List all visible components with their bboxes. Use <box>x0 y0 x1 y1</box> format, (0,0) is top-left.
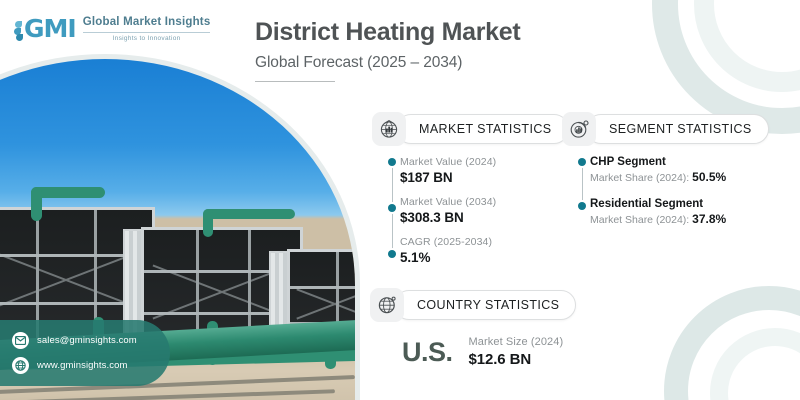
segment-statistics-header: SEGMENT STATISTICS <box>562 112 769 146</box>
country-metric-value: $12.6 BN <box>469 351 564 368</box>
country-name: U.S. <box>402 339 453 366</box>
title-block: District Heating Market Global Forecast … <box>255 18 675 82</box>
segment-row-title: CHP Segment <box>590 156 769 168</box>
contact-website-row[interactable]: www.gminsights.com <box>12 357 170 374</box>
market-statistics-body: Market Value (2024) $187 BN Market Value… <box>372 156 569 265</box>
segment-rail-line <box>582 162 584 206</box>
page-subtitle: Global Forecast (2025 – 2034) <box>255 54 675 72</box>
market-statistics-panel: MARKET STATISTICS Market Value (2024) $1… <box>372 112 569 265</box>
green-pipe-top-1 <box>31 187 105 198</box>
market-statistics-label: MARKET STATISTICS <box>419 122 552 136</box>
page-title: District Heating Market <box>255 18 675 47</box>
globe-icon <box>12 357 29 374</box>
contact-email-text: sales@gminsights.com <box>37 335 137 346</box>
market-row-label: Market Value (2024) <box>400 156 569 168</box>
segment-statistics-panel: SEGMENT STATISTICS CHP Segment Market Sh… <box>562 112 769 226</box>
country-metric: Market Size (2024) $12.6 BN <box>469 336 564 368</box>
market-bullet-2 <box>388 204 396 212</box>
segment-row-sub: Market Share (2024): 50.5% <box>590 170 769 184</box>
market-statistics-pill: MARKET STATISTICS <box>396 114 569 144</box>
logo-divider <box>83 32 211 33</box>
segment-row-label: Market Share (2024): <box>590 172 692 184</box>
segment-bullet-1 <box>578 158 586 166</box>
country-statistics-panel: COUNTRY STATISTICS U.S. Market Size (202… <box>370 288 576 368</box>
segment-statistics-pill: SEGMENT STATISTICS <box>586 114 769 144</box>
envelope-icon <box>12 332 29 349</box>
market-bullet-3 <box>388 250 396 258</box>
leaf-icon <box>14 21 23 41</box>
country-statistics-header: COUNTRY STATISTICS <box>370 288 576 322</box>
segment-row-sub: Market Share (2024): 37.8% <box>590 212 769 226</box>
market-row: CAGR (2025-2034) 5.1% <box>400 236 569 265</box>
infographic-page: sales@gminsights.com www.gminsights.com … <box>0 0 800 400</box>
market-row: Market Value (2034) $308.3 BN <box>400 196 569 225</box>
segment-row-label: Market Share (2024): <box>590 214 692 226</box>
gmi-wordmark: GMI <box>24 16 76 41</box>
globe-chart-icon <box>372 112 406 146</box>
segment-row-title: Residential Segment <box>590 198 769 210</box>
decorative-arc-bottom-right-outer <box>664 286 800 400</box>
segment-rail <box>576 156 590 226</box>
market-row-value: $187 BN <box>400 170 569 185</box>
segment-row: CHP Segment Market Share (2024): 50.5% <box>590 156 769 184</box>
country-statistics-body: U.S. Market Size (2024) $12.6 BN <box>370 336 576 368</box>
title-divider <box>255 81 335 83</box>
country-metric-label: Market Size (2024) <box>469 336 564 348</box>
contact-email-row[interactable]: sales@gminsights.com <box>12 332 170 349</box>
market-row-label: Market Value (2034) <box>400 196 569 208</box>
market-rail <box>386 156 400 265</box>
segment-row-value: 37.8% <box>692 212 726 226</box>
gmi-logo-icon: GMI <box>14 16 76 41</box>
market-row-value: 5.1% <box>400 250 569 265</box>
segment-bullet-2 <box>578 202 586 210</box>
green-pipe-riser-2 <box>203 209 213 237</box>
pie-chart-icon <box>562 112 596 146</box>
segment-statistics-label: SEGMENT STATISTICS <box>609 122 752 136</box>
segment-row: Residential Segment Market Share (2024):… <box>590 198 769 226</box>
market-row-value: $308.3 BN <box>400 210 569 225</box>
globe-icon <box>370 288 404 322</box>
segment-statistics-body: CHP Segment Market Share (2024): 50.5% R… <box>562 156 769 226</box>
country-statistics-label: COUNTRY STATISTICS <box>417 298 559 312</box>
country-statistics-pill: COUNTRY STATISTICS <box>394 290 576 320</box>
market-row: Market Value (2024) $187 BN <box>400 156 569 185</box>
logo-tagline: Insights to Innovation <box>83 35 211 42</box>
gmi-logo[interactable]: GMI Global Market Insights Insights to I… <box>14 16 210 42</box>
segment-row-value: 50.5% <box>692 170 726 184</box>
decorative-arc-top-right-inner <box>694 0 800 92</box>
green-pipe-top-2 <box>203 209 295 219</box>
contact-panel: sales@gminsights.com www.gminsights.com <box>0 320 170 386</box>
market-statistics-header: MARKET STATISTICS <box>372 112 569 146</box>
logo-company-name: Global Market Insights <box>83 16 211 29</box>
green-pipe-riser-1 <box>31 187 42 221</box>
market-bullet-1 <box>388 158 396 166</box>
decorative-arc-bottom-right-inner <box>710 328 800 400</box>
market-row-label: CAGR (2025-2034) <box>400 236 569 248</box>
contact-website-text: www.gminsights.com <box>37 360 128 371</box>
